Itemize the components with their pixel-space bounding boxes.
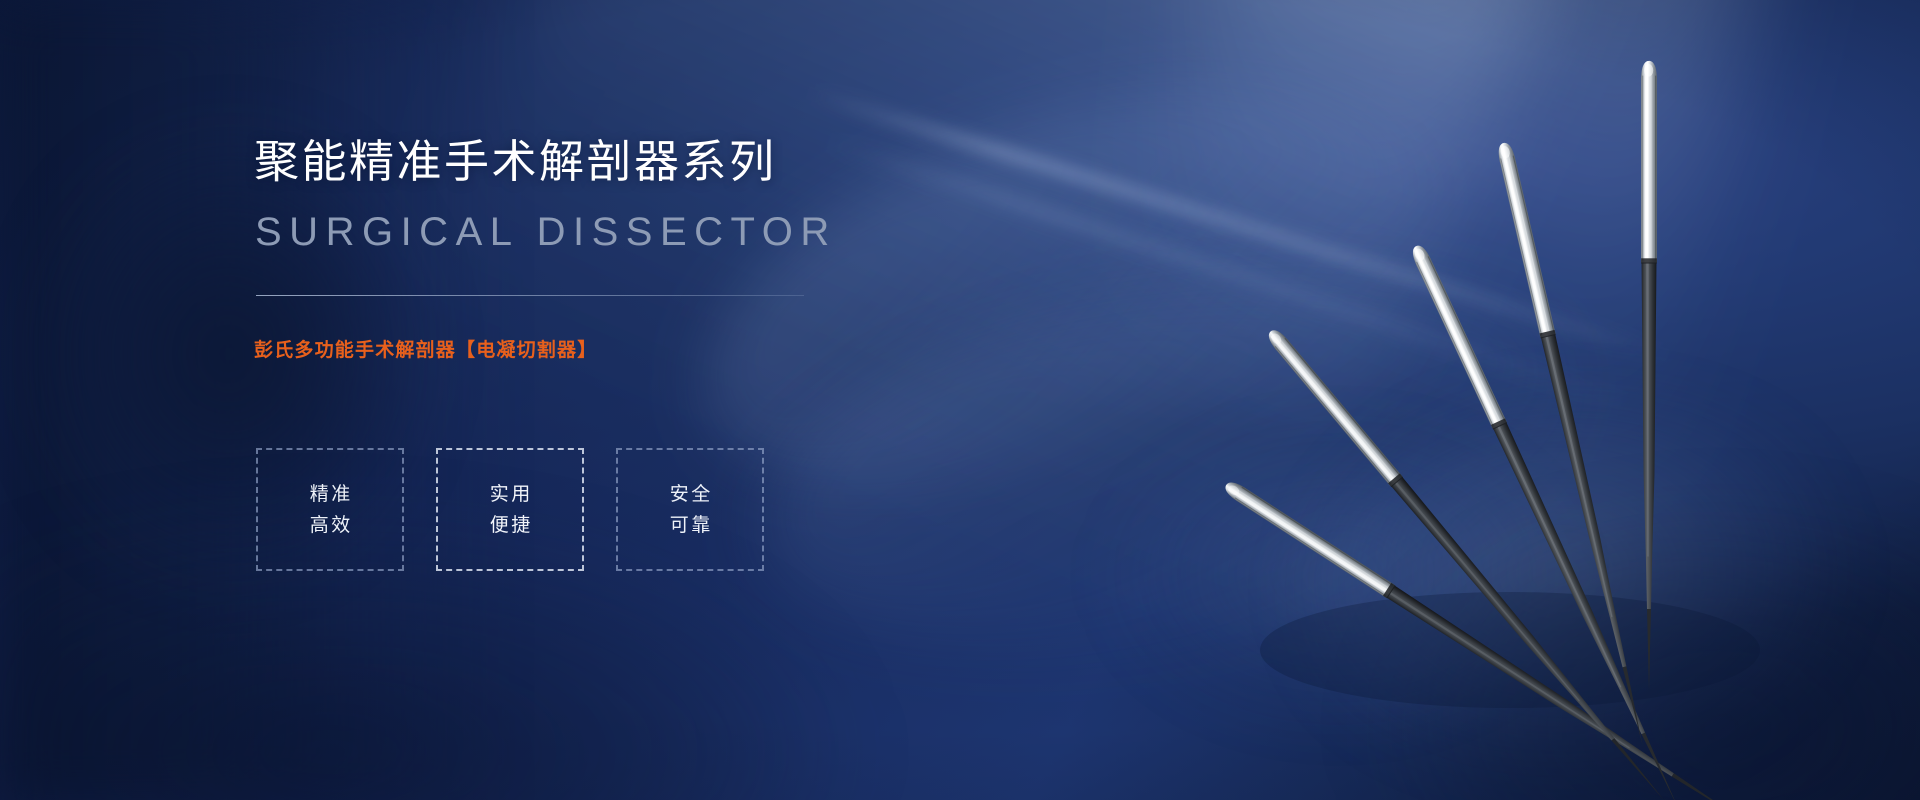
feature-box-2-line2: 便捷	[487, 516, 533, 535]
feature-box-1: 精准 高效	[256, 448, 404, 571]
feature-box-group: 精准 高效 实用 便捷 安全 可靠	[256, 448, 764, 571]
feature-box-3-line2: 可靠	[667, 516, 713, 535]
banner-hero: 聚能精准手术解剖器系列 SURGICAL DISSECTOR 彭氏多功能手术解剖…	[0, 0, 1920, 800]
feature-box-1-line1: 精准	[307, 485, 353, 504]
feature-box-2: 实用 便捷	[436, 448, 584, 571]
feature-box-3-line1: 安全	[667, 485, 713, 504]
product-name-label: 彭氏多功能手术解剖器【电凝切割器】	[254, 341, 597, 360]
page-title: 聚能精准手术解剖器系列	[254, 139, 777, 184]
feature-box-2-line1: 实用	[487, 485, 533, 504]
page-subtitle-english: SURGICAL DISSECTOR	[255, 212, 837, 252]
feature-box-1-line2: 高效	[307, 516, 353, 535]
title-divider	[256, 295, 804, 296]
banner-content: 聚能精准手术解剖器系列 SURGICAL DISSECTOR 彭氏多功能手术解剖…	[0, 0, 1920, 800]
feature-box-3: 安全 可靠	[616, 448, 764, 571]
